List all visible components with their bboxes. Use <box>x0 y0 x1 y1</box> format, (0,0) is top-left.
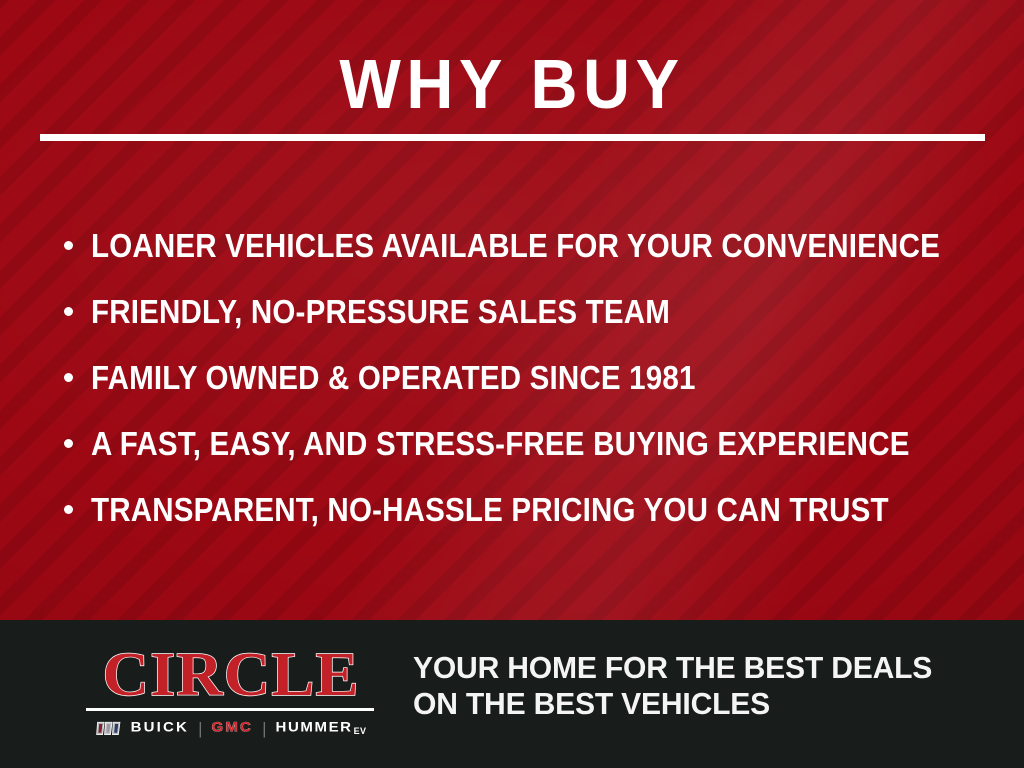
footer-tagline: YOUR HOME FOR THE BEST DEALS ON THE BEST… <box>413 650 993 722</box>
brand-separator: | <box>198 720 202 737</box>
brand-row: BUICK | GMC | HUMMER EV <box>86 718 376 738</box>
bullet-dot-icon <box>64 241 73 250</box>
list-item: LOANER VEHICLES AVAILABLE FOR YOUR CONVE… <box>64 213 984 279</box>
list-item: FAMILY OWNED & OPERATED SINCE 1981 <box>64 345 984 411</box>
brand-label-gmc: GMC <box>211 721 253 736</box>
list-item-label: LOANER VEHICLES AVAILABLE FOR YOUR CONVE… <box>91 229 940 263</box>
list-item-label: FAMILY OWNED & OPERATED SINCE 1981 <box>91 361 696 395</box>
benefits-list: LOANER VEHICLES AVAILABLE FOR YOUR CONVE… <box>64 213 984 543</box>
bullet-dot-icon <box>64 505 73 514</box>
bullet-dot-icon <box>64 373 73 382</box>
brand-label-buick: BUICK <box>131 721 190 736</box>
tagline-line-2: ON THE BEST VEHICLES <box>413 686 976 722</box>
dealer-wordmark: CIRCLE <box>80 645 382 705</box>
brand-label-hummer-ev: EV <box>354 726 367 736</box>
brand-label-hummer: HUMMER <box>276 721 353 736</box>
bullet-dot-icon <box>64 439 73 448</box>
list-item: TRANSPARENT, NO-HASSLE PRICING YOU CAN T… <box>64 477 984 543</box>
tagline-line-1: YOUR HOME FOR THE BEST DEALS <box>413 650 976 686</box>
list-item-label: A FAST, EASY, AND STRESS-FREE BUYING EXP… <box>91 427 910 461</box>
page-title: WHY BUY <box>36 46 988 122</box>
title-divider <box>40 134 985 141</box>
why-buy-slide: WHY BUY LOANER VEHICLES AVAILABLE FOR YO… <box>0 0 1024 768</box>
bullet-dot-icon <box>64 307 73 316</box>
list-item: A FAST, EASY, AND STRESS-FREE BUYING EXP… <box>64 411 984 477</box>
buick-tri-shield-icon <box>96 721 122 736</box>
dealer-logo: CIRCLE BUICK | GMC | HUMME <box>86 645 376 738</box>
list-item-label: FRIENDLY, NO-PRESSURE SALES TEAM <box>91 295 670 329</box>
list-item-label: TRANSPARENT, NO-HASSLE PRICING YOU CAN T… <box>91 493 889 527</box>
brand-separator: | <box>262 720 266 737</box>
list-item: FRIENDLY, NO-PRESSURE SALES TEAM <box>64 279 984 345</box>
